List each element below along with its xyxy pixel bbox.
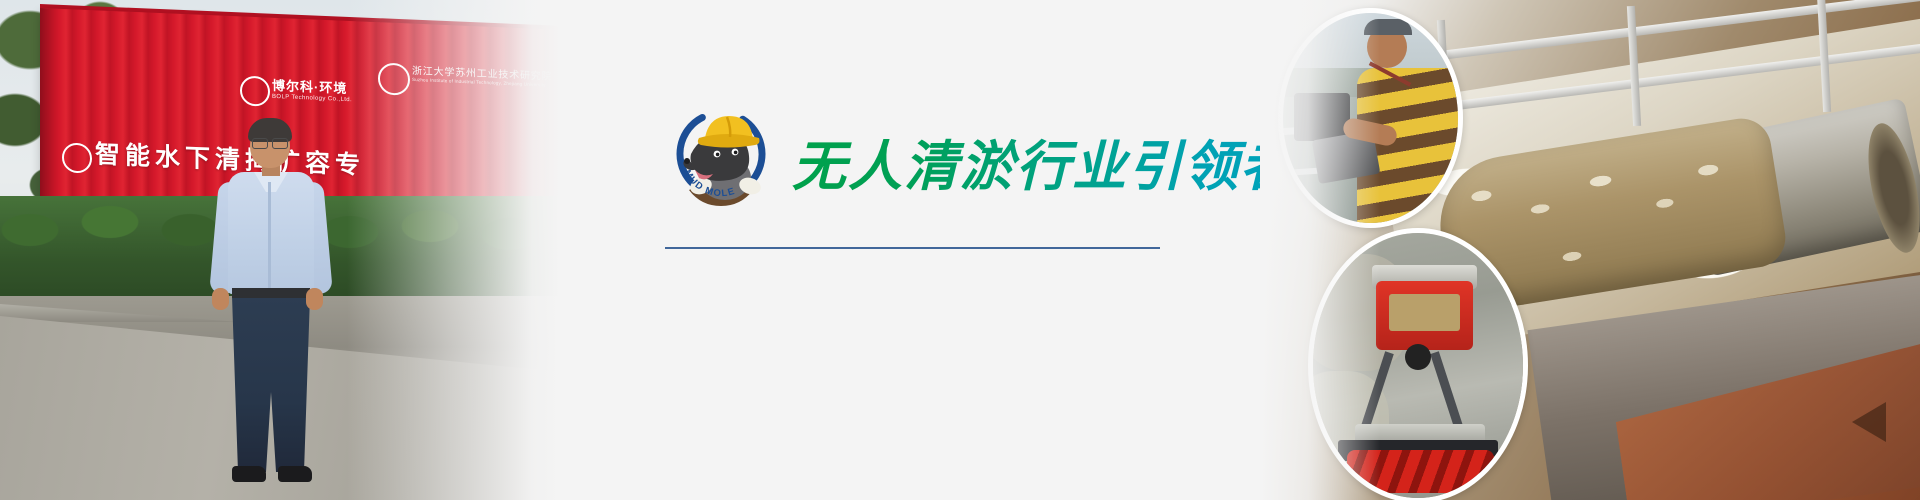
divider-rule: [665, 247, 1160, 249]
mud-mole-logo-icon: MUD MOLE: [665, 98, 777, 210]
next-arrow-icon[interactable]: [1852, 402, 1886, 442]
mud-mole-logo: MUD MOLE: [665, 98, 777, 210]
headline-text: 无人清淤行业引领者: [792, 122, 1296, 201]
right-photo-fade: [1260, 0, 1380, 500]
center-content: MUD MOLE 无人清淤行业引领者: [560, 0, 1260, 500]
left-photo-fade: [0, 0, 560, 500]
right-photo-montage: [1260, 0, 1920, 500]
hero-banner: 博尔科·环境 BOLP Technology Co.,Ltd. 浙江大学苏州工业…: [0, 0, 1920, 500]
left-photo: 博尔科·环境 BOLP Technology Co.,Ltd. 浙江大学苏州工业…: [0, 0, 560, 500]
